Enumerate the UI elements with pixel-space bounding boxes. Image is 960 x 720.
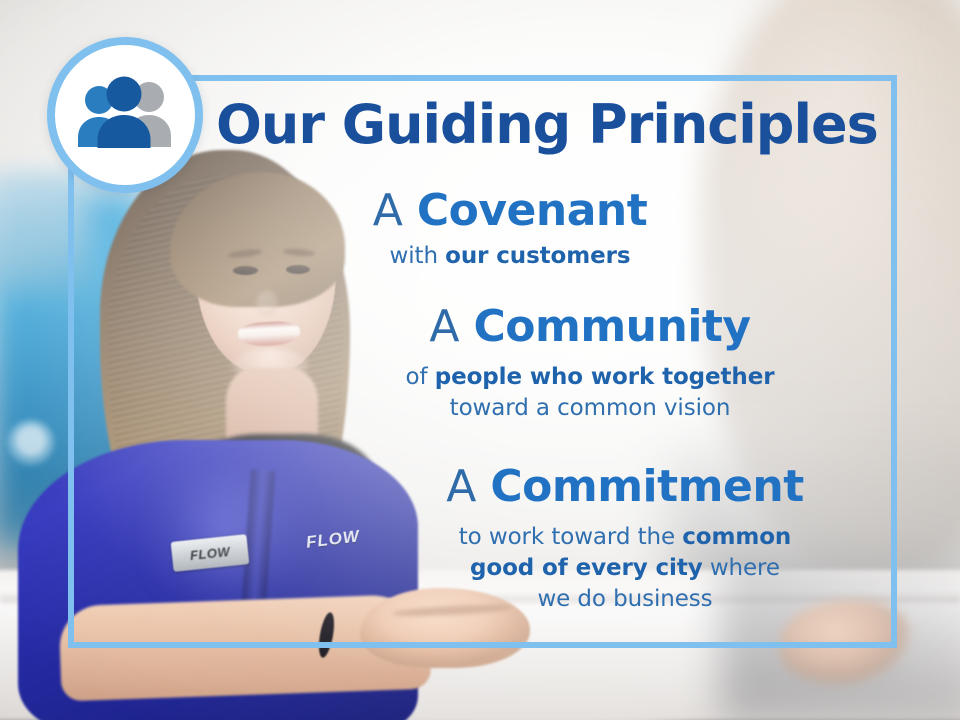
subtitle-emphasis: common bbox=[682, 524, 791, 550]
principle-community-article: A bbox=[429, 301, 473, 352]
guiding-principles-graphic: FLOW FLOW bbox=[0, 0, 960, 720]
principle-community-subtitle: of people who work togethertoward a comm… bbox=[330, 362, 850, 424]
subtitle-line: toward a common vision bbox=[330, 393, 850, 424]
subtitle-emphasis: people who work together bbox=[435, 364, 775, 390]
principle-commitment-heading: A Commitment bbox=[360, 462, 890, 512]
principle-community-heading: A Community bbox=[330, 302, 850, 352]
principle-covenant-heading: A Covenant bbox=[250, 186, 770, 236]
principle-commitment-article: A bbox=[446, 461, 490, 512]
subtitle-line: of people who work together bbox=[330, 362, 850, 393]
subtitle-line: with our customers bbox=[250, 241, 770, 272]
subtitle-line: we do business bbox=[360, 584, 890, 615]
principle-covenant-subtitle: with our customers bbox=[250, 241, 770, 272]
subtitle-emphasis: good of every city bbox=[470, 555, 703, 581]
subtitle-text: we do business bbox=[537, 586, 712, 612]
subtitle-emphasis: our customers bbox=[445, 243, 630, 269]
principle-commitment: A Commitment to work toward the commongo… bbox=[360, 462, 890, 615]
subtitle-line: good of every city where bbox=[360, 553, 890, 584]
principle-covenant: A Covenant with our customers bbox=[250, 186, 770, 272]
subtitle-text: to work toward the bbox=[459, 524, 683, 550]
subtitle-text: where bbox=[703, 555, 780, 581]
name-badge-text: FLOW bbox=[189, 543, 231, 562]
principle-community: A Community of people who work togethert… bbox=[330, 302, 850, 424]
page-title: Our Guiding Principles bbox=[216, 96, 876, 154]
principle-covenant-keyword: Covenant bbox=[417, 185, 647, 236]
subtitle-text: of bbox=[406, 364, 435, 390]
blurred-car-emblem bbox=[8, 420, 54, 466]
subtitle-line: to work toward the common bbox=[360, 522, 890, 553]
principle-community-keyword: Community bbox=[473, 301, 750, 352]
blurred-display-panel bbox=[0, 175, 90, 295]
principle-commitment-keyword: Commitment bbox=[490, 461, 803, 512]
principle-covenant-article: A bbox=[373, 185, 417, 236]
people-group-icon bbox=[47, 37, 203, 193]
subtitle-text: toward a common vision bbox=[450, 395, 731, 421]
subtitle-text: with bbox=[390, 243, 446, 269]
principle-commitment-subtitle: to work toward the commongood of every c… bbox=[360, 522, 890, 615]
woman-nose bbox=[256, 290, 278, 316]
